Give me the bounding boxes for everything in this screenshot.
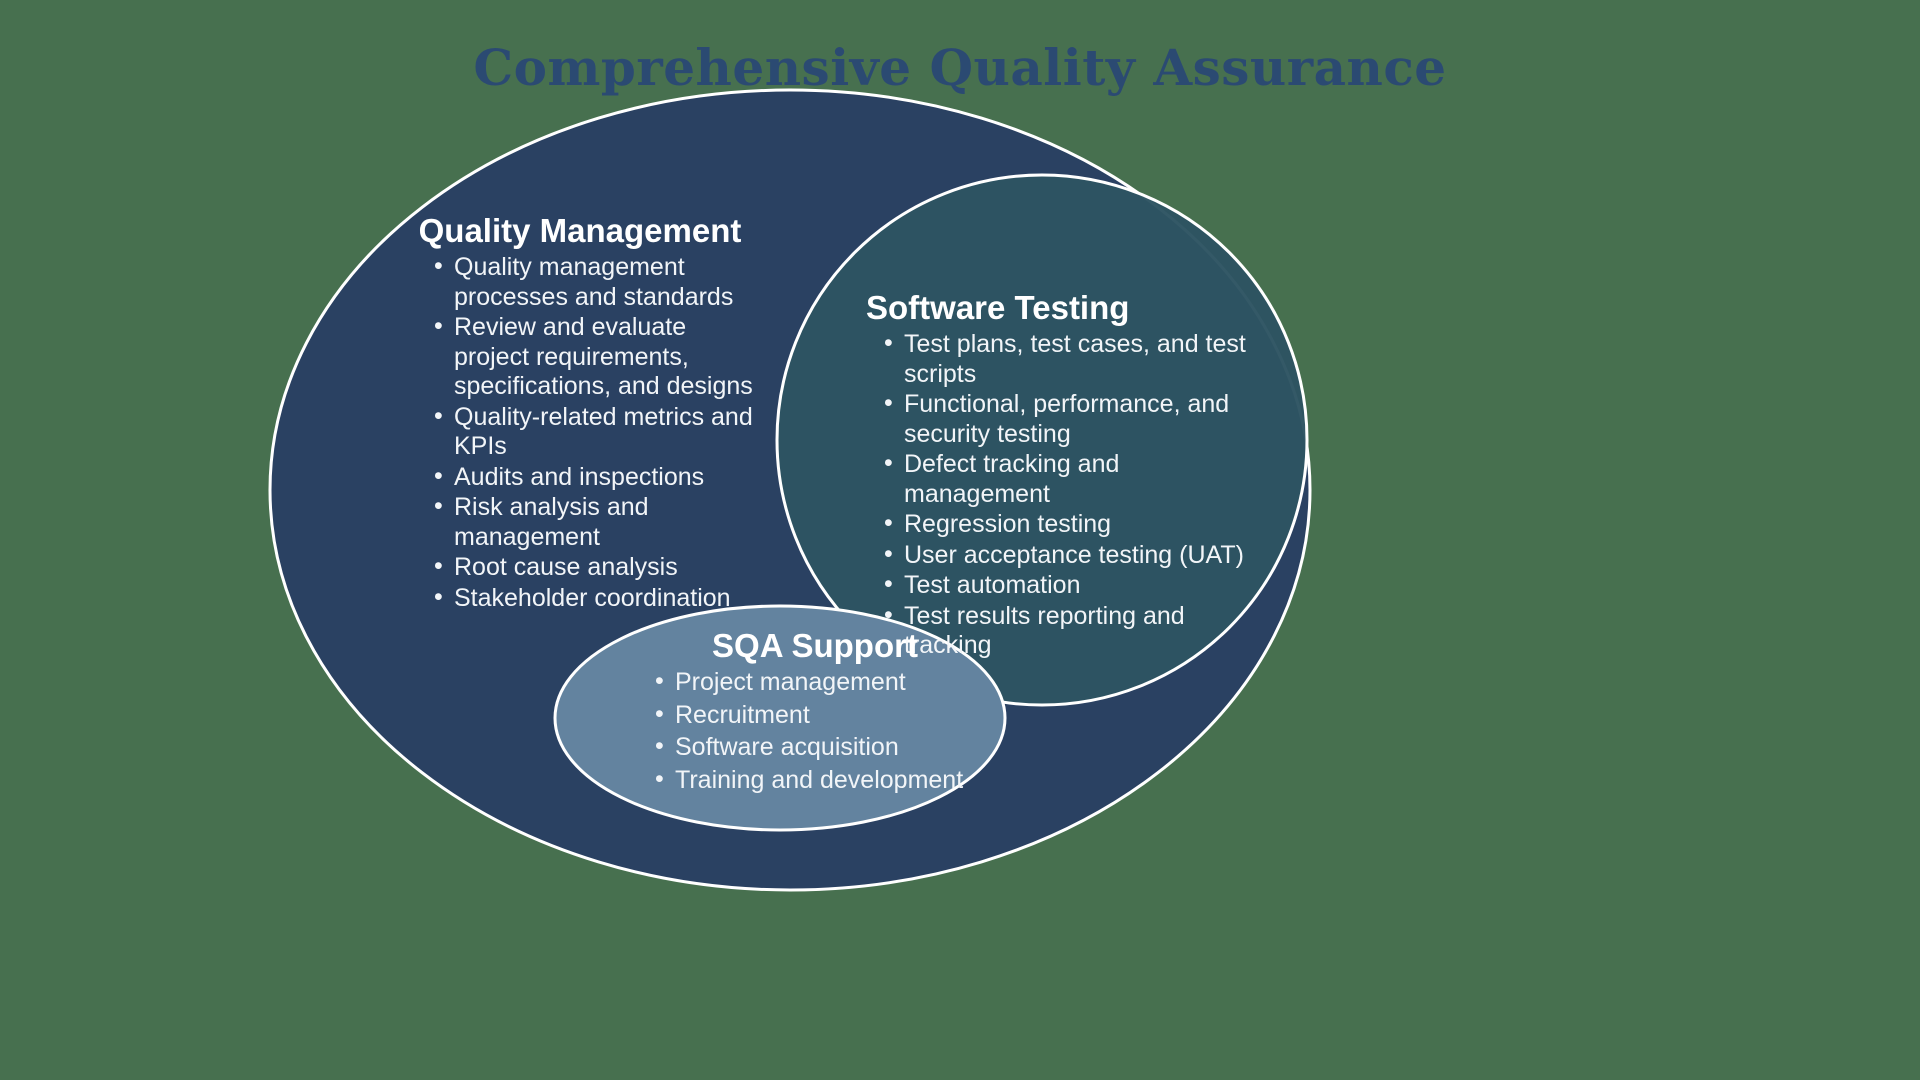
list-item: Root cause analysis (432, 553, 758, 583)
list-item: Stakeholder coordination (432, 584, 758, 614)
list-item: Recruitment (653, 701, 975, 731)
list-item: Test automation (882, 571, 1266, 601)
group-quality-management-title: Quality Management (408, 213, 758, 249)
group-software-testing-title: Software Testing (866, 290, 1266, 326)
list-item: Training and development (653, 766, 975, 796)
list-item: Project management (653, 668, 975, 698)
list-item: Test plans, test cases, and test scripts (882, 330, 1266, 389)
group-software-testing: Software Testing Test plans, test cases,… (866, 290, 1266, 662)
list-item: Regression testing (882, 510, 1266, 540)
list-item: Audits and inspections (432, 463, 758, 493)
list-item: Functional, performance, and security te… (882, 390, 1266, 449)
group-quality-management: Quality Management Quality management pr… (408, 213, 758, 614)
list-item: Software acquisition (653, 733, 975, 763)
page-title: Comprehensive Quality Assurance (0, 38, 1920, 97)
group-sqa-support: SQA Support Project management Recruitme… (645, 628, 975, 798)
list-item: Quality management processes and standar… (432, 253, 758, 312)
list-item: Review and evaluate project requirements… (432, 313, 758, 402)
list-item: Risk analysis and management (432, 493, 758, 552)
group-quality-management-bullets: Quality management processes and standar… (408, 253, 758, 613)
group-sqa-support-title: SQA Support (645, 628, 975, 664)
diagram-canvas: Comprehensive Quality Assurance Quality … (0, 0, 1920, 1080)
group-software-testing-bullets: Test plans, test cases, and test scripts… (866, 330, 1266, 661)
list-item: Quality-related metrics and KPIs (432, 403, 758, 462)
list-item: User acceptance testing (UAT) (882, 541, 1266, 571)
group-sqa-support-bullets: Project management Recruitment Software … (645, 668, 975, 795)
list-item: Defect tracking and management (882, 450, 1266, 509)
